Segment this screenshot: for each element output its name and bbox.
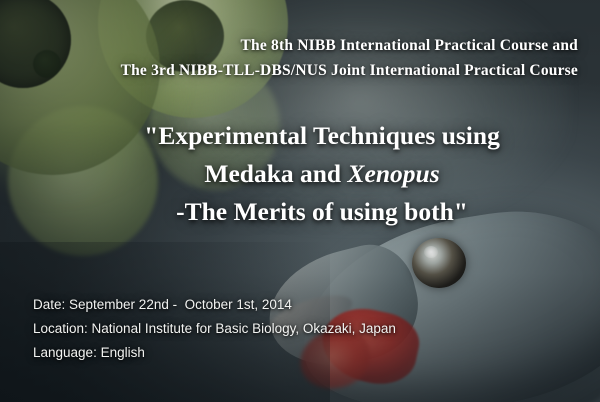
poster-title-line-1: "Experimental Techniques using (70, 117, 574, 155)
event-location: Location: National Institute for Basic B… (33, 317, 396, 341)
poster-title-line-2: Medaka and Xenopus (70, 155, 574, 193)
event-date: Date: September 22nd - October 1st, 2014 (33, 293, 396, 317)
poster-text-content: The 8th NIBB International Practical Cou… (0, 0, 600, 402)
event-language: Language: English (33, 341, 396, 365)
course-subtitle-line-1: The 8th NIBB International Practical Cou… (0, 33, 578, 58)
poster-title-line-2-text: Medaka and (204, 159, 347, 188)
course-subtitle-line-2: The 3rd NIBB-TLL-DBS/NUS Joint Internati… (0, 58, 578, 83)
poster-image: The 8th NIBB International Practical Cou… (0, 0, 600, 402)
course-subtitle: The 8th NIBB International Practical Cou… (0, 33, 578, 83)
poster-title-species: Xenopus (348, 159, 440, 188)
poster-title-line-3: -The Merits of using both" (70, 193, 574, 231)
poster-title: "Experimental Techniques using Medaka an… (70, 117, 574, 231)
event-details: Date: September 22nd - October 1st, 2014… (33, 293, 396, 365)
